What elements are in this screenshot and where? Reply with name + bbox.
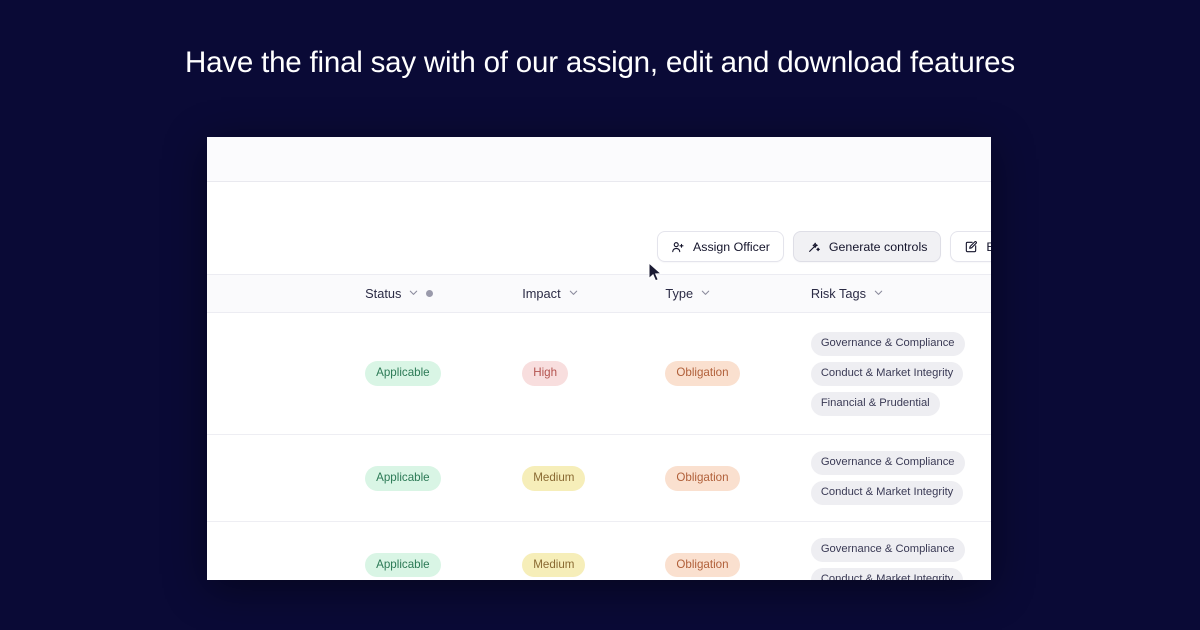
risk-tag: Conduct & Market Integrity bbox=[811, 362, 963, 386]
table-row[interactable]: firm for the d in the UK: (2) ess; (3) l… bbox=[207, 313, 991, 435]
impact-badge: High bbox=[522, 361, 568, 385]
action-toolbar: Assign Officer Generate controls bbox=[657, 231, 991, 262]
cell-description: are adjusted in he firm's type, bbox=[207, 522, 351, 580]
table-row[interactable]: ge based on a Applicable Medium Obligati… bbox=[207, 435, 991, 522]
chevron-down-icon[interactable] bbox=[700, 286, 711, 301]
risk-tag: Governance & Compliance bbox=[811, 538, 965, 562]
obligations-table: Status Impact bbox=[207, 274, 991, 580]
column-label-impact: Impact bbox=[522, 286, 560, 301]
type-badge: Obligation bbox=[665, 466, 739, 490]
assign-officer-label: Assign Officer bbox=[693, 240, 770, 254]
app-window-content: Sourcebook) Assign Officer bbox=[207, 137, 991, 580]
cell-description: firm for the d in the UK: (2) ess; (3) l… bbox=[207, 313, 351, 435]
chevron-down-icon[interactable] bbox=[408, 286, 419, 301]
edit-mapping-label: Edit Mapping bbox=[986, 240, 991, 254]
cell-type: Obligation bbox=[651, 522, 796, 580]
generate-controls-button[interactable]: Generate controls bbox=[793, 231, 942, 262]
cell-risk-tags: Governance & Compliance Conduct & Market… bbox=[797, 435, 991, 522]
cell-risk-tags: Governance & Compliance Conduct & Market… bbox=[797, 313, 991, 435]
cell-type: Obligation bbox=[651, 435, 796, 522]
cell-status: Applicable bbox=[351, 522, 508, 580]
filter-active-dot-icon[interactable] bbox=[426, 290, 433, 297]
cell-impact: High bbox=[508, 313, 651, 435]
slide-canvas: Have the final say with of our assign, e… bbox=[0, 0, 1200, 630]
table-row[interactable]: are adjusted in he firm's type, Applicab… bbox=[207, 522, 991, 580]
risk-tag: Conduct & Market Integrity bbox=[811, 568, 963, 580]
status-badge: Applicable bbox=[365, 361, 441, 385]
column-label-status: Status bbox=[365, 286, 401, 301]
risk-tag: Governance & Compliance bbox=[811, 332, 965, 356]
assign-officer-button[interactable]: Assign Officer bbox=[657, 231, 784, 262]
cell-description: ge based on a bbox=[207, 435, 351, 522]
type-badge: Obligation bbox=[665, 361, 739, 385]
pencil-square-icon bbox=[964, 240, 978, 254]
column-header-impact[interactable]: Impact bbox=[508, 275, 651, 313]
risk-tag: Conduct & Market Integrity bbox=[811, 481, 963, 505]
column-header-type[interactable]: Type bbox=[651, 275, 796, 313]
column-header-description[interactable] bbox=[207, 275, 351, 313]
table-header-row: Status Impact bbox=[207, 275, 991, 313]
type-badge: Obligation bbox=[665, 553, 739, 577]
chevron-down-icon[interactable] bbox=[873, 286, 884, 301]
column-header-risk-tags[interactable]: Risk Tags bbox=[797, 275, 991, 313]
cell-type: Obligation bbox=[651, 313, 796, 435]
app-header: Sourcebook) bbox=[207, 137, 991, 182]
status-badge: Applicable bbox=[365, 553, 441, 577]
impact-badge: Medium bbox=[522, 553, 585, 577]
toolbar-region: Assign Officer Generate controls bbox=[207, 182, 991, 274]
user-plus-icon bbox=[671, 240, 685, 254]
column-label-risk-tags: Risk Tags bbox=[811, 286, 866, 301]
status-badge: Applicable bbox=[365, 466, 441, 490]
risk-tag: Financial & Prudential bbox=[811, 392, 940, 416]
edit-mapping-button[interactable]: Edit Mapping bbox=[950, 231, 991, 262]
column-label-type: Type bbox=[665, 286, 693, 301]
cell-impact: Medium bbox=[508, 522, 651, 580]
column-header-status[interactable]: Status bbox=[351, 275, 508, 313]
table-body: firm for the d in the UK: (2) ess; (3) l… bbox=[207, 313, 991, 581]
risk-tag: Governance & Compliance bbox=[811, 451, 965, 475]
impact-badge: Medium bbox=[522, 466, 585, 490]
chevron-down-icon[interactable] bbox=[568, 286, 579, 301]
generate-controls-label: Generate controls bbox=[829, 240, 928, 254]
cell-impact: Medium bbox=[508, 435, 651, 522]
cell-risk-tags: Governance & Compliance Conduct & Market… bbox=[797, 522, 991, 580]
cell-status: Applicable bbox=[351, 435, 508, 522]
magic-wand-icon bbox=[807, 240, 821, 254]
page-title: Have the final say with of our assign, e… bbox=[0, 46, 1200, 80]
app-window: Sourcebook) Assign Officer bbox=[207, 137, 991, 580]
mouse-cursor-icon bbox=[648, 262, 664, 284]
cell-status: Applicable bbox=[351, 313, 508, 435]
